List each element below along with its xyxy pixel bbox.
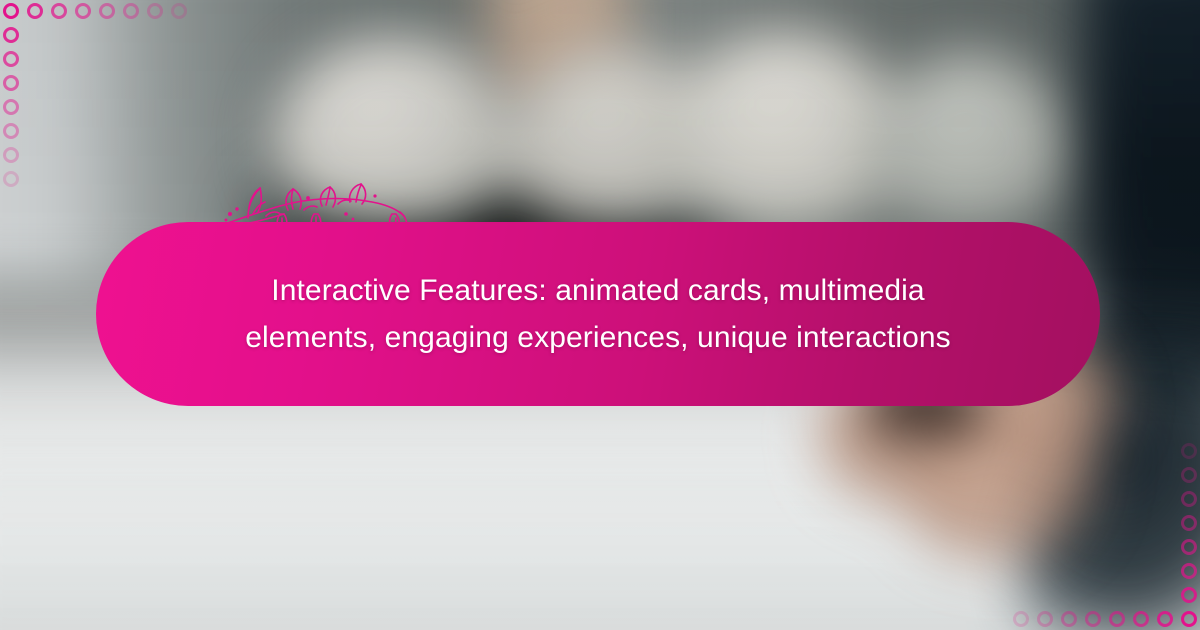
decorative-dot bbox=[1037, 611, 1053, 627]
corner-dots-top-left bbox=[0, 0, 195, 195]
decorative-dot bbox=[1157, 611, 1173, 627]
banner-canvas: Interactive Features: animated cards, mu… bbox=[0, 0, 1200, 630]
decorative-dot bbox=[3, 99, 19, 115]
decorative-dot bbox=[3, 3, 19, 19]
decorative-dot bbox=[1181, 467, 1197, 483]
decorative-dot bbox=[1133, 611, 1149, 627]
decorative-dot bbox=[3, 171, 19, 187]
decorative-dot bbox=[1181, 491, 1197, 507]
decorative-dot bbox=[1181, 611, 1197, 627]
decorative-dot bbox=[1013, 611, 1029, 627]
decorative-dot bbox=[1181, 587, 1197, 603]
decorative-dot bbox=[1181, 443, 1197, 459]
decorative-dot bbox=[51, 3, 67, 19]
decorative-dot bbox=[1109, 611, 1125, 627]
decorative-dot bbox=[3, 123, 19, 139]
decorative-dot bbox=[1181, 539, 1197, 555]
decorative-dot bbox=[3, 27, 19, 43]
decorative-dot bbox=[75, 3, 91, 19]
decorative-dot bbox=[3, 51, 19, 67]
decorative-dot bbox=[3, 75, 19, 91]
headline-pill-banner: Interactive Features: animated cards, mu… bbox=[96, 222, 1100, 406]
corner-dots-bottom-right bbox=[1005, 435, 1200, 630]
decorative-dot bbox=[171, 3, 187, 19]
decorative-dot bbox=[99, 3, 115, 19]
decorative-dot bbox=[1085, 611, 1101, 627]
decorative-dot bbox=[1181, 563, 1197, 579]
decorative-dot bbox=[1181, 515, 1197, 531]
decorative-dot bbox=[147, 3, 163, 19]
decorative-dot bbox=[3, 147, 19, 163]
headline-text: Interactive Features: animated cards, mu… bbox=[218, 267, 978, 361]
decorative-dot bbox=[123, 3, 139, 19]
decorative-dot bbox=[1061, 611, 1077, 627]
decorative-dot bbox=[27, 3, 43, 19]
